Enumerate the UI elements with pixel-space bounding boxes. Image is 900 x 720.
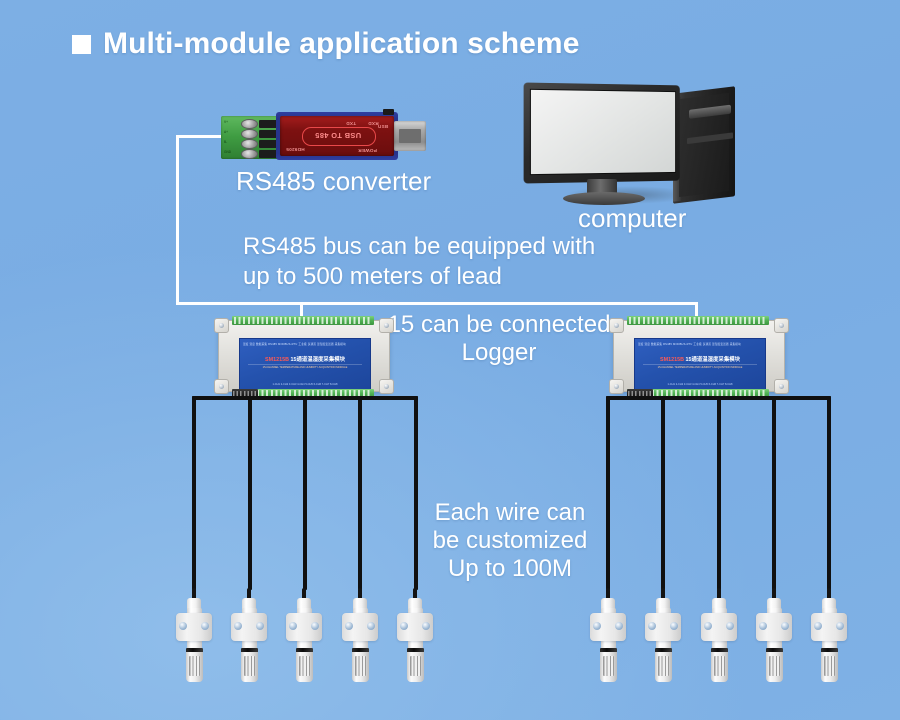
logger-top-terminal-strip (627, 316, 769, 325)
logger-front-panel: 温度 湿度 数据采集 RS485 MODBUS-RTU 工业级 多通道 温湿度变… (634, 338, 766, 390)
filter-vents (244, 656, 255, 676)
bus-segment-horizontal (176, 302, 698, 305)
sensor-wire (827, 396, 831, 590)
panel-brand-line: SM1215B 15通道温湿度采集模块 (240, 355, 370, 363)
flange-screw-icon (615, 622, 623, 630)
panel-top-text: 温度 湿度 数据采集 RS485 MODBUS-RTU 工业级 多通道 温湿度变… (638, 342, 762, 346)
wire-bus-right-top (606, 396, 831, 400)
probe-mount-flange (590, 613, 626, 641)
converter-caption: RS485 converter (236, 166, 431, 196)
converter-silk-usb: USB (378, 124, 389, 129)
flange-screw-icon (670, 622, 678, 630)
flange-screw-icon (256, 622, 264, 630)
page-title-text: Multi-module application scheme (103, 27, 580, 61)
logger-right[interactable]: 温度 湿度 数据采集 RS485 MODBUS-RTU 工业级 多通道 温湿度变… (613, 312, 783, 400)
temperature-humidity-probe[interactable] (175, 588, 213, 684)
flange-screw-icon (422, 622, 430, 630)
bus-segment-top-left (176, 135, 226, 138)
probe-filter-cap (352, 652, 369, 682)
sensor-wire (717, 396, 721, 590)
flange-screw-icon (814, 622, 822, 630)
page-title: Multi-module application scheme (72, 27, 580, 61)
sensor-wire (606, 396, 610, 590)
sensor-wire (303, 396, 307, 590)
probe-mount-flange (231, 613, 267, 641)
panel-divider (248, 364, 362, 365)
panel-bottom-text: 1-CH1 2-CH2 3-CH3 4-CH4 5-CH5 6-CH6 7-CH… (638, 383, 762, 386)
panel-bottom-text: 1-CH1 2-CH2 3-CH3 4-CH4 5-CH5 6-CH6 7-CH… (243, 383, 367, 386)
sensor-wire (661, 396, 665, 590)
logger-note-line2: Logger (383, 338, 615, 368)
converter-oval-label: USB TO 485 (302, 128, 374, 143)
filter-vents (769, 656, 780, 676)
panel-title-cn: 15通道温湿度采集模块 (290, 357, 345, 363)
temperature-humidity-probe[interactable] (810, 588, 848, 684)
computer-caption: computer (578, 203, 686, 233)
flange-screw-icon (704, 622, 712, 630)
probe-filter-cap (241, 652, 258, 682)
wire-bus-left-top (192, 396, 418, 400)
panel-model: SM1215B (660, 357, 684, 363)
wire-note-line1: Each wire can (415, 498, 605, 528)
probe-filter-cap (186, 652, 203, 682)
flange-screw-icon (726, 622, 734, 630)
filter-vents (189, 656, 200, 676)
converter-silk-txd: TXD (346, 121, 356, 126)
filter-vents (714, 656, 725, 676)
temperature-humidity-probe[interactable] (230, 588, 268, 684)
filter-vents (603, 656, 614, 676)
flange-screw-icon (311, 622, 319, 630)
converter-silk-power: POWER (358, 148, 377, 153)
panel-brand-line: SM1215B 15通道温湿度采集模块 (635, 355, 765, 363)
logger-top-terminal-strip (232, 316, 374, 325)
terminal-screw-icon (241, 119, 258, 129)
bus-segment-vertical-left (176, 135, 179, 305)
probe-filter-cap (711, 652, 728, 682)
logger-enclosure: 温度 湿度 数据采集 RS485 MODBUS-RTU 工业级 多通道 温湿度变… (218, 320, 390, 392)
converter-shield: USB TO 485 HD9205 USB POWER TXD RXD (276, 112, 398, 160)
converter-silk-model: HD9205 (286, 147, 305, 152)
computer[interactable] (525, 82, 725, 212)
filter-vents (658, 656, 669, 676)
terminal-pin-label-gnd: GND (224, 150, 231, 154)
mounting-ear (609, 318, 624, 333)
wire-note-line2: be customized (415, 526, 605, 556)
probe-mount-flange (397, 613, 433, 641)
terminal-screw-icon (241, 139, 258, 149)
probe-mount-flange (342, 613, 378, 641)
converter-usb-plug (394, 121, 426, 151)
panel-title-cn: 15通道温湿度采集模块 (685, 357, 740, 363)
mounting-ear (214, 318, 229, 333)
flange-screw-icon (400, 622, 408, 630)
panel-divider (643, 364, 757, 365)
temperature-humidity-probe[interactable] (700, 588, 738, 684)
square-bullet-icon (72, 35, 91, 54)
probe-filter-cap (655, 652, 672, 682)
flange-screw-icon (781, 622, 789, 630)
temperature-humidity-probe[interactable] (285, 588, 323, 684)
converter-terminal-block: V+ A+ B- GND (221, 116, 281, 159)
probe-filter-cap (600, 652, 617, 682)
tower-vent-slot (687, 132, 733, 144)
panel-model: SM1215B (265, 357, 289, 363)
optical-drive-icon (689, 105, 731, 119)
probe-mount-flange (286, 613, 322, 641)
probe-filter-cap (407, 652, 424, 682)
bus-note-line1: RS485 bus can be equipped with (243, 232, 595, 262)
sensor-wire (192, 396, 196, 590)
probe-filter-cap (821, 652, 838, 682)
terminal-pin-label-b: B- (224, 140, 227, 144)
flange-screw-icon (201, 622, 209, 630)
bus-note-line2: up to 500 meters of lead (243, 262, 502, 292)
panel-subtitle: 15-CHANNEL TEMPERATURE AND HUMIDITY ACQU… (250, 366, 360, 369)
logger-note-line1: 15 can be connected (383, 310, 615, 340)
filter-vents (410, 656, 421, 676)
wire-note-line3: Up to 100M (415, 554, 605, 584)
logger-front-panel: 温度 湿度 数据采集 RS485 MODBUS-RTU 工业级 多通道 温湿度变… (239, 338, 371, 390)
terminal-screw-icon (241, 129, 258, 139)
probe-filter-cap (766, 652, 783, 682)
panel-top-text: 温度 湿度 数据采集 RS485 MODBUS-RTU 工业级 多通道 温湿度变… (243, 342, 367, 346)
diagram-canvas: Multi-module application scheme V+ A+ B-… (0, 0, 900, 720)
monitor-screen (530, 89, 676, 175)
probe-mount-flange (176, 613, 212, 641)
filter-vents (824, 656, 835, 676)
flange-screw-icon (648, 622, 656, 630)
flange-screw-icon (234, 622, 242, 630)
flange-screw-icon (593, 622, 601, 630)
flange-screw-icon (179, 622, 187, 630)
logger-enclosure: 温度 湿度 数据采集 RS485 MODBUS-RTU 工业级 多通道 温湿度变… (613, 320, 785, 392)
converter-top-tab (383, 109, 394, 115)
flange-screw-icon (367, 622, 375, 630)
temperature-humidity-probe[interactable] (341, 588, 379, 684)
mounting-ear (609, 379, 624, 394)
flange-screw-icon (345, 622, 353, 630)
temperature-humidity-probe[interactable] (396, 588, 434, 684)
sensor-wire (414, 396, 418, 590)
temperature-humidity-probe[interactable] (755, 588, 793, 684)
flange-screw-icon (836, 622, 844, 630)
filter-vents (355, 656, 366, 676)
computer-tower (673, 86, 735, 204)
probe-filter-cap (296, 652, 313, 682)
flange-screw-icon (759, 622, 767, 630)
probe-mount-flange (701, 613, 737, 641)
sensor-wire (358, 396, 362, 590)
terminal-screw-icon (241, 149, 258, 159)
rs485-converter[interactable]: V+ A+ B- GND USB TO 485 HD9205 USB POWER… (221, 110, 426, 162)
terminal-pin-label-a: A+ (224, 130, 228, 134)
sensor-wire (248, 396, 252, 590)
mounting-ear (379, 379, 394, 394)
logger-left[interactable]: 温度 湿度 数据采集 RS485 MODBUS-RTU 工业级 多通道 温湿度变… (218, 312, 388, 400)
tower-front-panel (679, 93, 729, 197)
flange-screw-icon (289, 622, 297, 630)
panel-subtitle: 15-CHANNEL TEMPERATURE AND HUMIDITY ACQU… (645, 366, 755, 369)
mounting-ear (214, 379, 229, 394)
filter-vents (299, 656, 310, 676)
converter-pcb: USB TO 485 HD9205 USB POWER TXD RXD (280, 116, 394, 156)
probe-mount-flange (645, 613, 681, 641)
monitor-bezel (524, 83, 680, 184)
mounting-ear (379, 318, 394, 333)
sensor-wire (772, 396, 776, 590)
temperature-humidity-probe[interactable] (644, 588, 682, 684)
mounting-ear (774, 379, 789, 394)
converter-silk-rxd: RXD (368, 121, 379, 126)
terminal-pin-label-vplus: V+ (224, 120, 228, 124)
mounting-ear (774, 318, 789, 333)
temperature-humidity-probe[interactable] (589, 588, 627, 684)
probe-mount-flange (811, 613, 847, 641)
probe-mount-flange (756, 613, 792, 641)
